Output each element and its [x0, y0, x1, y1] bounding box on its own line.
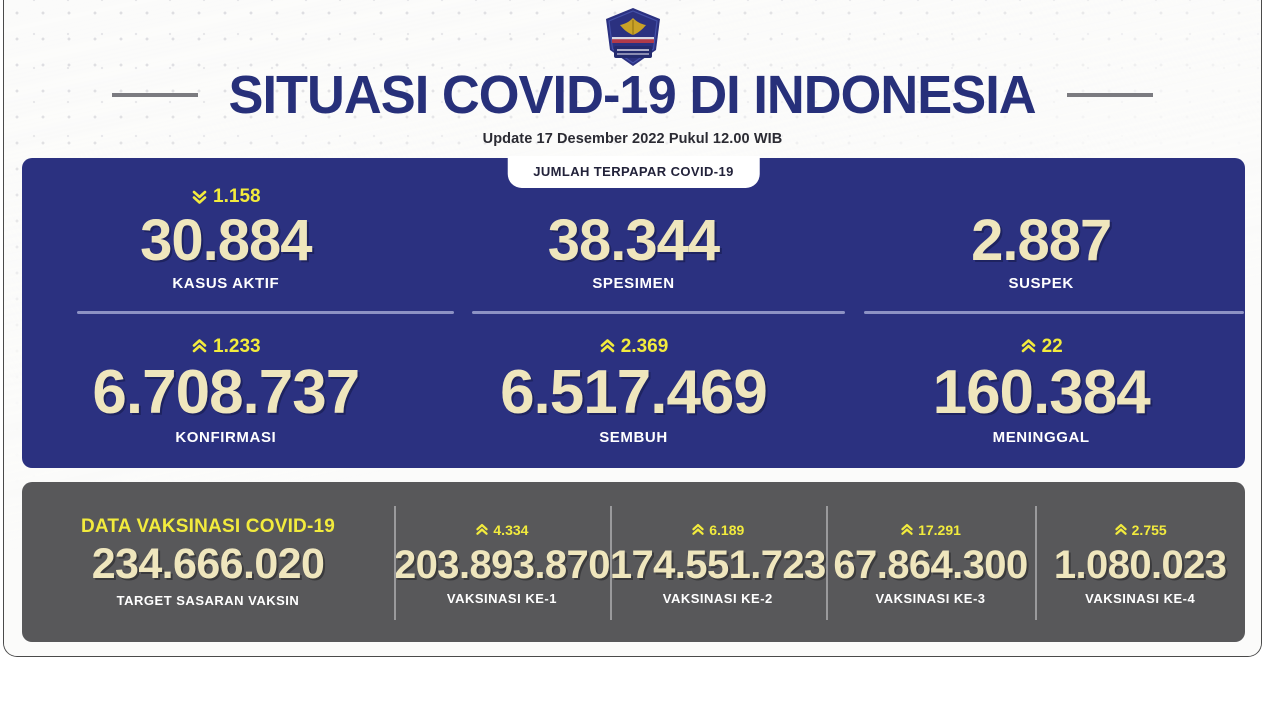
delta-value-meninggal: 22 — [1042, 337, 1063, 356]
stat-cell-meninggal: 22 160.384 MENINGGAL — [837, 313, 1245, 468]
delta-meninggal: 22 — [1020, 335, 1063, 359]
stat-value-suspek: 2.887 — [971, 211, 1111, 270]
title-rule-right — [1067, 93, 1153, 97]
vax-label-dose-2: VAKSINASI KE-2 — [663, 591, 773, 606]
vax-cell-dose-4: 2.755 1.080.023 VAKSINASI KE-4 — [1035, 482, 1245, 642]
vaccination-panel-heading: DATA VAKSINASI COVID-19 — [81, 516, 335, 540]
double-chevron-up-icon — [475, 523, 489, 537]
delta-value-dose-1: 4.334 — [493, 523, 528, 537]
title-rule-left — [112, 93, 198, 97]
vax-cell-target: DATA VAKSINASI COVID-19 234.666.020 TARG… — [22, 482, 394, 642]
covid-stats-panel: JUMLAH TERPAPAR COVID-19 1.158 30.884 KA… — [22, 158, 1245, 468]
stat-value-meninggal: 160.384 — [933, 361, 1150, 424]
stat-label-konfirmasi: KONFIRMASI — [175, 429, 276, 446]
stat-value-sembuh: 6.517.469 — [500, 361, 767, 424]
stat-value-spesimen: 38.344 — [548, 211, 719, 270]
vax-cell-dose-1: 4.334 203.893.870 VAKSINASI KE-1 — [394, 482, 610, 642]
delta-value-dose-4: 2.755 — [1132, 523, 1167, 537]
stat-cell-sembuh: 2.369 6.517.469 SEMBUH — [430, 313, 838, 468]
delta-value-dose-3: 17.291 — [918, 523, 961, 537]
row-divider-center — [472, 311, 845, 314]
page-title: SITUASI COVID-19 DI INDONESIA — [229, 68, 1036, 122]
vax-value-dose-4: 1.080.023 — [1054, 544, 1227, 586]
double-chevron-up-icon — [191, 338, 208, 355]
stat-label-kasus-aktif: KASUS AKTIF — [172, 275, 279, 292]
row-divider-left — [77, 311, 454, 314]
stat-label-meninggal: MENINGGAL — [993, 429, 1090, 446]
stat-label-suspek: SUSPEK — [1009, 275, 1074, 292]
delta-konfirmasi: 1.233 — [191, 335, 261, 359]
covid-panel-badge: JUMLAH TERPAPAR COVID-19 — [507, 156, 760, 188]
stat-label-spesimen: SPESIMEN — [592, 275, 674, 292]
delta-value-sembuh: 2.369 — [621, 337, 669, 356]
delta-dose-2: 6.189 — [691, 518, 744, 542]
vax-value-dose-2: 174.551.723 — [610, 544, 826, 586]
stat-cell-kasus-aktif: 1.158 30.884 KASUS AKTIF — [22, 158, 430, 313]
vax-value-dose-3: 67.864.300 — [833, 544, 1027, 586]
delta-kasus-aktif: 1.158 — [191, 185, 261, 209]
delta-dose-3: 17.291 — [900, 518, 961, 542]
logo-container — [4, 6, 1261, 68]
delta-value-kasus-aktif: 1.158 — [213, 187, 261, 206]
vax-value-dose-1: 203.893.870 — [394, 544, 610, 586]
infographic-card: SITUASI COVID-19 DI INDONESIA Update 17 … — [3, 0, 1262, 657]
delta-value-konfirmasi: 1.233 — [213, 337, 261, 356]
vaccination-panel: DATA VAKSINASI COVID-19 234.666.020 TARG… — [22, 482, 1245, 642]
stat-cell-konfirmasi: 1.233 6.708.737 KONFIRMASI — [22, 313, 430, 468]
update-timestamp: Update 17 Desember 2022 Pukul 12.00 WIB — [4, 131, 1261, 147]
double-chevron-up-icon — [900, 523, 914, 537]
double-chevron-up-icon — [1114, 523, 1128, 537]
stat-cell-suspek: 2.887 SUSPEK — [837, 158, 1245, 313]
stat-value-konfirmasi: 6.708.737 — [92, 361, 359, 424]
title-row: SITUASI COVID-19 DI INDONESIA — [4, 68, 1261, 122]
indonesia-government-emblem-icon — [602, 6, 664, 68]
vax-value-target: 234.666.020 — [92, 542, 325, 587]
infographic-page: SITUASI COVID-19 DI INDONESIA Update 17 … — [0, 0, 1265, 711]
delta-sembuh: 2.369 — [599, 335, 669, 359]
vax-cell-dose-3: 17.291 67.864.300 VAKSINASI KE-3 — [826, 482, 1036, 642]
double-chevron-down-icon — [191, 188, 208, 205]
vax-cell-dose-2: 6.189 174.551.723 VAKSINASI KE-2 — [610, 482, 826, 642]
row-divider-right — [864, 311, 1244, 314]
delta-dose-4: 2.755 — [1114, 518, 1167, 542]
delta-value-dose-2: 6.189 — [709, 523, 744, 537]
double-chevron-up-icon — [1020, 338, 1037, 355]
delta-dose-1: 4.334 — [475, 518, 528, 542]
vax-label-dose-3: VAKSINASI KE-3 — [875, 591, 985, 606]
stat-value-kasus-aktif: 30.884 — [140, 211, 311, 270]
vax-label-dose-1: VAKSINASI KE-1 — [447, 591, 557, 606]
vax-label-target: TARGET SASARAN VAKSIN — [117, 593, 300, 608]
double-chevron-up-icon — [599, 338, 616, 355]
stat-label-sembuh: SEMBUH — [599, 429, 668, 446]
vax-label-dose-4: VAKSINASI KE-4 — [1085, 591, 1195, 606]
double-chevron-up-icon — [691, 523, 705, 537]
